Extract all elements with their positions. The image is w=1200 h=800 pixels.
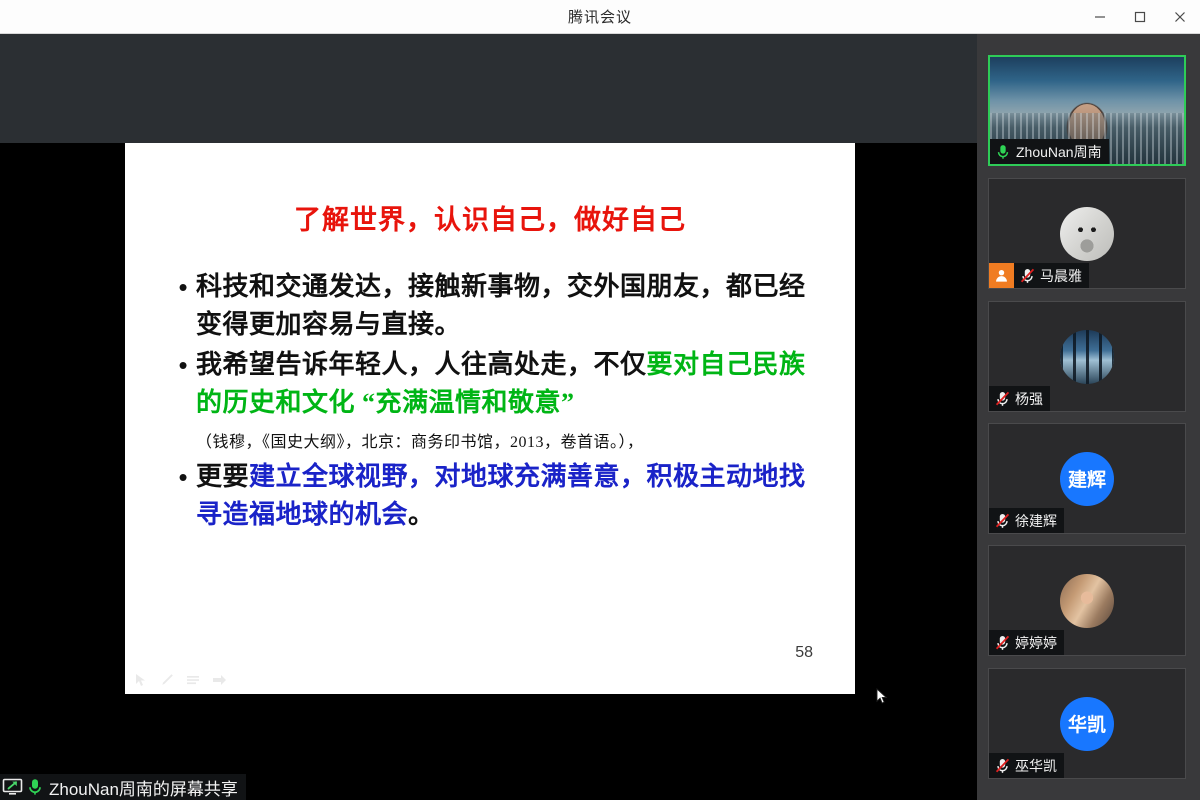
slides-menu-icon[interactable] — [185, 672, 201, 688]
window-title: 腾讯会议 — [568, 6, 632, 27]
bullet-segment-highlight: 建立全球视野，对地球充满善意，积极主动地找寻造福地球的机会 — [196, 462, 806, 529]
mouse-cursor — [876, 688, 888, 706]
participant-tile-zhounan[interactable]: ZhouNan周南 — [988, 55, 1186, 166]
microphone-muted-icon — [992, 753, 1012, 778]
microphone-icon — [993, 139, 1013, 164]
bullet-text: 更要建立全球视野，对地球充满善意，积极主动地找寻造福地球的机会。 — [196, 458, 830, 534]
participant-tile-yangqiang[interactable]: 杨强 — [988, 301, 1186, 412]
stage-letterbox-top — [0, 34, 977, 143]
avatar: 建辉 — [1060, 452, 1114, 506]
microphone-muted-icon — [992, 386, 1012, 411]
participant-name: 马晨雅 — [1040, 266, 1082, 286]
avatar — [1060, 330, 1114, 384]
microphone-icon — [26, 777, 44, 797]
minimize-button[interactable] — [1080, 0, 1120, 34]
maximize-button[interactable] — [1120, 0, 1160, 34]
participant-label: 徐建辉 — [989, 508, 1064, 533]
screen-share-label: ZhouNan周南的屏幕共享 — [49, 775, 238, 800]
shared-screen-stage[interactable]: 了解世界，认识自己，做好自己 • 科技和交通发达，接触新事物，交外国朋友，都已经… — [0, 34, 977, 800]
participant-label: 马晨雅 — [989, 263, 1089, 288]
participant-name: 婷婷婷 — [1015, 633, 1057, 653]
participant-label: ZhouNan周南 — [990, 139, 1109, 164]
close-button[interactable] — [1160, 0, 1200, 34]
screen-share-status-bar: ZhouNan周南的屏幕共享 — [0, 774, 246, 800]
bullet-marker: • — [170, 346, 196, 384]
participant-name: ZhouNan周南 — [1016, 142, 1102, 162]
microphone-muted-icon — [992, 508, 1012, 533]
bullet-segment: 更要 — [196, 462, 249, 491]
bullet-text: 科技和交通发达，接触新事物，交外国朋友，都已经变得更加容易与直接。 — [196, 268, 830, 344]
participant-tile-machenya[interactable]: 马晨雅 — [988, 178, 1186, 289]
microphone-muted-icon — [992, 630, 1012, 655]
avatar: 华凯 — [1060, 697, 1114, 751]
next-arrow-icon[interactable] — [211, 672, 227, 688]
title-bar: 腾讯会议 — [0, 0, 1200, 34]
bullet-marker: • — [170, 458, 196, 496]
bullet-text: 我希望告诉年轻人，人往高处走，不仅要对自己民族的历史和文化 “充满温情和敬意” — [196, 346, 830, 422]
presentation-slide[interactable]: 了解世界，认识自己，做好自己 • 科技和交通发达，接触新事物，交外国朋友，都已经… — [125, 143, 855, 694]
participant-label: 杨强 — [989, 386, 1050, 411]
participant-label: 婷婷婷 — [989, 630, 1064, 655]
avatar — [1060, 207, 1114, 261]
bullet-segment: 科技和交通发达，接触新事物，交外国朋友，都已经变得更加容易与直接。 — [196, 272, 806, 339]
pointer-icon[interactable] — [133, 672, 149, 688]
slide-citation: （钱穆，《国史大纲》，北京：商务印书馆，2013，卷首语。）， — [196, 428, 830, 452]
avatar — [1060, 574, 1114, 628]
bullet-segment: 我希望告诉年轻人，人往高处走，不仅 — [196, 350, 647, 379]
participant-name: 巫华凯 — [1015, 756, 1057, 776]
bullet-segment: 。 — [408, 500, 435, 529]
participant-name: 杨强 — [1015, 389, 1043, 409]
host-badge-icon — [989, 263, 1014, 288]
slide-page-number: 58 — [795, 644, 813, 662]
participant-rail[interactable]: ZhouNan周南 — [977, 34, 1200, 800]
participant-tile-wuhuakai[interactable]: 华凯 巫华凯 — [988, 668, 1186, 779]
list-item: • 我希望告诉年轻人，人往高处走，不仅要对自己民族的历史和文化 “充满温情和敬意… — [170, 346, 830, 422]
microphone-muted-icon — [1017, 263, 1037, 288]
window-controls — [1080, 0, 1200, 34]
slide-bullet-list: • 科技和交通发达，接触新事物，交外国朋友，都已经变得更加容易与直接。 • 我希… — [170, 268, 830, 536]
slide-title: 了解世界，认识自己，做好自己 — [125, 198, 855, 237]
pen-icon[interactable] — [159, 672, 175, 688]
participant-tile-tingtingting[interactable]: 婷婷婷 — [988, 545, 1186, 656]
participant-tile-xujianhui[interactable]: 建辉 徐建辉 — [988, 423, 1186, 534]
participant-name: 徐建辉 — [1015, 511, 1057, 531]
screen-share-icon — [2, 778, 24, 796]
list-item: • 科技和交通发达，接触新事物，交外国朋友，都已经变得更加容易与直接。 — [170, 268, 830, 344]
participant-label: 巫华凯 — [989, 753, 1064, 778]
presenter-toolbar[interactable] — [133, 672, 227, 688]
list-item: • 更要建立全球视野，对地球充满善意，积极主动地找寻造福地球的机会。 — [170, 458, 830, 534]
bullet-marker: • — [170, 268, 196, 306]
tencent-meeting-window: 腾讯会议 了解世界，认识自己，做好自己 • 科技和交通发达，接触新 — [0, 0, 1200, 800]
